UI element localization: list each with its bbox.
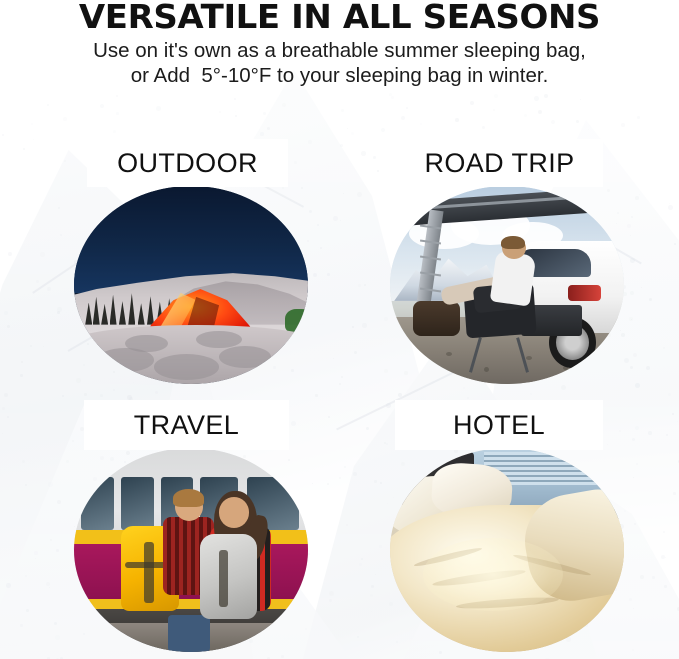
subtitle-line-2: or Add 5°-10°F to your sleeping bag in w…	[0, 63, 679, 88]
snow-lump	[125, 335, 167, 353]
backpack-strap	[219, 550, 228, 607]
card-label-travel: TRAVEL	[84, 400, 289, 450]
card-image-road-trip	[390, 186, 624, 384]
duffel-bag	[413, 301, 460, 337]
man-hair	[173, 489, 203, 507]
card-label-road-trip: ROAD TRIP	[396, 139, 603, 187]
light-glow	[423, 538, 563, 611]
tree	[147, 296, 154, 325]
snow-lump	[219, 346, 270, 368]
person-torso	[490, 251, 537, 308]
snow-lump	[154, 354, 220, 380]
card-image-hotel	[390, 448, 624, 652]
person-hair	[501, 236, 524, 250]
train-yellow-stripe-lower	[74, 599, 308, 609]
backpack-strap	[144, 542, 153, 603]
car-taillight	[568, 285, 601, 301]
photo-outdoor-tent	[74, 186, 308, 384]
card-label-text: HOTEL	[453, 410, 545, 441]
tree	[101, 304, 108, 325]
tree	[128, 293, 135, 324]
subtitle-line-1: Use on it's own as a breathable summer s…	[0, 38, 679, 63]
photo-hotel-bed	[390, 448, 624, 652]
woman-head	[219, 497, 249, 528]
card-label-text: TRAVEL	[134, 410, 239, 441]
shrub	[285, 309, 308, 333]
card-image-travel	[74, 448, 308, 652]
photo-travel-train	[74, 448, 308, 652]
gravel	[484, 367, 489, 372]
train-window	[81, 477, 114, 530]
tree	[93, 297, 100, 325]
tree	[119, 301, 126, 325]
train-window	[121, 477, 154, 530]
header: VERSATILE IN ALL SEASONS Use on it's own…	[0, 0, 679, 88]
tree	[85, 303, 92, 325]
card-label-outdoor: OUTDOOR	[87, 139, 288, 187]
man-jeans	[168, 615, 210, 652]
tree	[110, 295, 117, 325]
infographic-root: VERSATILE IN ALL SEASONS Use on it's own…	[0, 0, 679, 659]
tree	[138, 303, 145, 324]
grey-backpack	[200, 534, 256, 620]
photo-road-trip	[390, 186, 624, 384]
card-label-text: ROAD TRIP	[424, 148, 574, 179]
card-image-outdoor	[74, 186, 308, 384]
page-title: VERSATILE IN ALL SEASONS	[0, 0, 679, 34]
card-label-hotel: HOTEL	[395, 400, 603, 450]
card-label-text: OUTDOOR	[117, 148, 258, 179]
